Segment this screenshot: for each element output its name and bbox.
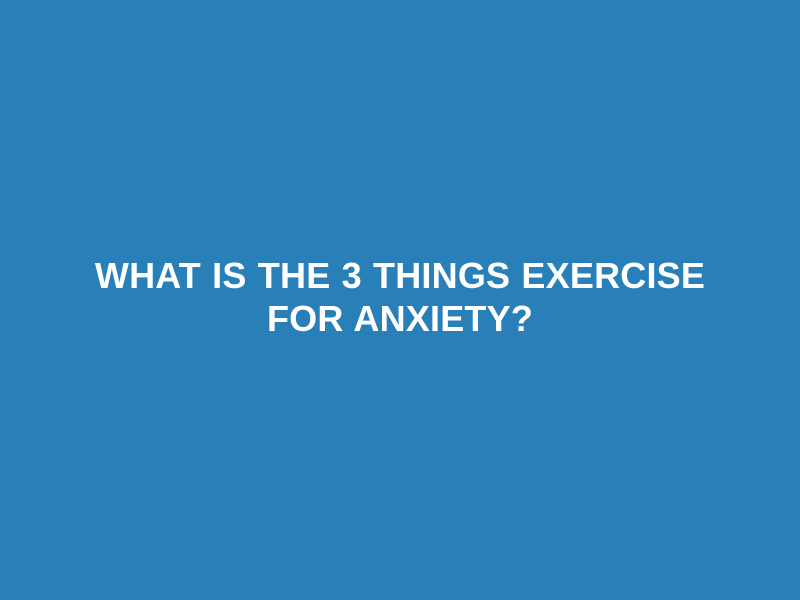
featured-image-card: What is the 3 Things Exercise for Anxiet… (0, 0, 800, 600)
title-block: What is the 3 Things Exercise for Anxiet… (0, 254, 800, 340)
page-title: What is the 3 Things Exercise for Anxiet… (80, 254, 720, 340)
